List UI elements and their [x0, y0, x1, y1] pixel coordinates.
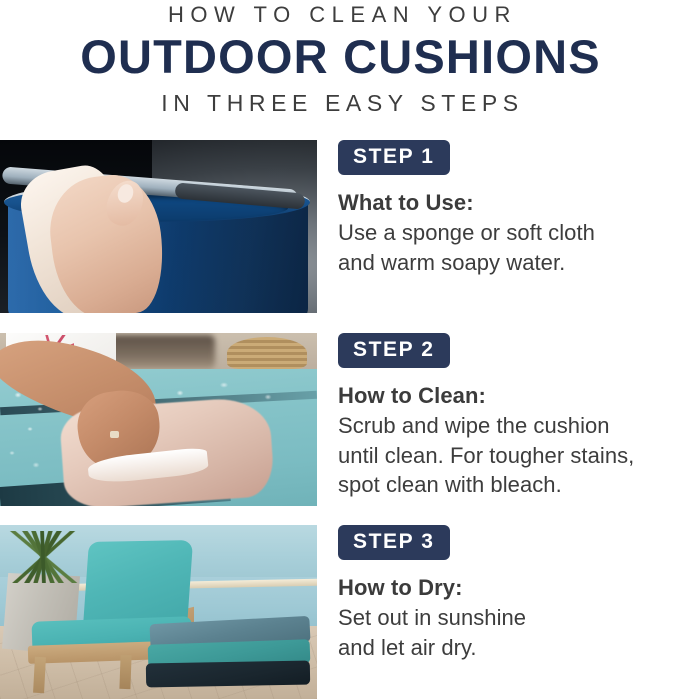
- step-2-badge: STEP 2: [338, 333, 450, 368]
- lounger-back-cushion: [83, 540, 193, 628]
- step-3-text: STEP 3 How to Dry: Set out in sunshine a…: [338, 525, 679, 699]
- agave-plant: [6, 531, 80, 583]
- page-title: OUTDOOR CUSHIONS: [0, 28, 679, 86]
- step-1-badge: STEP 1: [338, 140, 450, 175]
- step-row-3: STEP 3 How to Dry: Set out in sunshine a…: [0, 525, 679, 699]
- step-1-title: What to Use:: [338, 188, 679, 218]
- wicker-basket: [227, 337, 307, 369]
- step-row-1: STEP 1 What to Use: Use a sponge or soft…: [0, 140, 679, 313]
- stacked-cushion-bottom: [146, 661, 310, 688]
- step-3-badge: STEP 3: [338, 525, 450, 560]
- step-2-title: How to Clean:: [338, 381, 679, 411]
- step-3-photo: [0, 525, 317, 699]
- step-1-body: Use a sponge or soft cloth and warm soap…: [338, 218, 679, 277]
- step-1-text: STEP 1 What to Use: Use a sponge or soft…: [338, 140, 679, 313]
- step-2-photo: [0, 333, 317, 506]
- stacked-cushions: [146, 620, 316, 692]
- header-subline: IN THREE EASY STEPS: [0, 88, 679, 118]
- step-row-2: STEP 2 How to Clean: Scrub and wipe the …: [0, 333, 679, 506]
- infographic-header: HOW TO CLEAN YOUR OUTDOOR CUSHIONS IN TH…: [0, 0, 679, 118]
- lounger-leg-front: [33, 657, 46, 694]
- step-3-title: How to Dry:: [338, 573, 679, 603]
- step-3-body: Set out in sunshine and let air dry.: [338, 603, 679, 662]
- step-1-photo: [0, 140, 317, 313]
- step-2-body: Scrub and wipe the cushion until clean. …: [338, 411, 679, 500]
- header-kicker: HOW TO CLEAN YOUR: [0, 2, 679, 28]
- step-2-text: STEP 2 How to Clean: Scrub and wipe the …: [338, 333, 679, 506]
- finger-ring: [110, 431, 119, 438]
- lounger-leg-back: [119, 655, 131, 689]
